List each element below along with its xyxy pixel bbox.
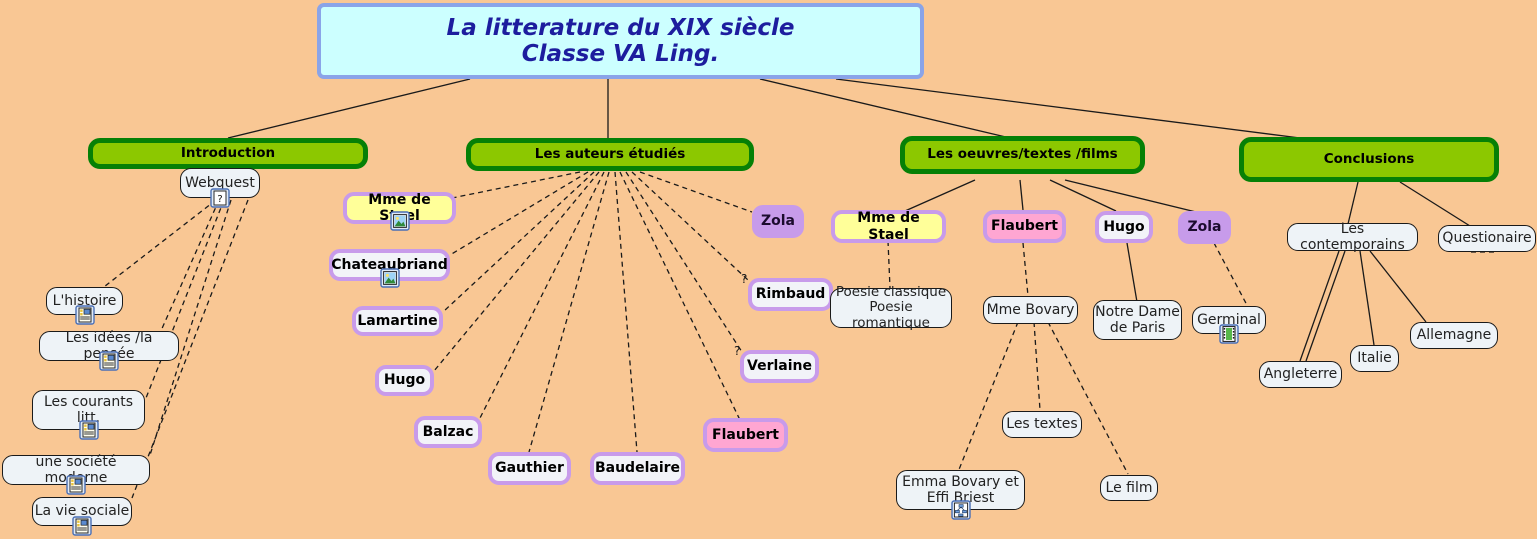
map-title[interactable]: La litterature du XIX siècle Classe VA L… [317, 3, 924, 79]
node-mme-de-stael-auteur[interactable]: Mme de Stael [343, 192, 456, 224]
node-gauthier[interactable]: Gauthier [488, 452, 571, 485]
node-allemagne-label: Allemagne [1417, 327, 1492, 343]
section-auteurs-label: Les auteurs étudiés [535, 147, 686, 163]
map-title-line1: La litterature du XIX siècle [447, 15, 795, 41]
node-lamartine[interactable]: Lamartine [352, 306, 443, 336]
node-italie-label: Italie [1357, 350, 1392, 366]
link-oeuvres-zola [1065, 180, 1196, 212]
node-les-contemporains[interactable]: Les contemporains [1287, 223, 1418, 251]
link-contemporains-italie [1360, 251, 1374, 345]
node-questionaire[interactable]: Questionaire [1438, 225, 1536, 252]
node-flaubert-auteur-label: Flaubert [712, 427, 779, 443]
link-mmebovary-lestextes [1034, 322, 1040, 410]
node-vie-sociale[interactable]: La vie sociale [32, 497, 132, 526]
node-zola-auteur[interactable]: Zola [752, 205, 804, 238]
node-mme-bovary[interactable]: Mme Bovary [983, 296, 1078, 324]
link-hugo-notredame [1127, 243, 1137, 302]
link-webquest-histoire [100, 200, 216, 290]
link-auteurs-balzac [478, 172, 604, 422]
node-idees[interactable]: Les idées /la pensée [39, 331, 179, 361]
document-image-icon[interactable] [72, 516, 92, 536]
link-auteurs-lamartine [444, 172, 594, 311]
section-auteurs[interactable]: Les auteurs étudiés [466, 138, 754, 171]
film-icon[interactable] [1219, 324, 1239, 344]
node-le-film-label: Le film [1106, 480, 1153, 496]
link-webquest-idees [160, 200, 219, 333]
node-flaubert-oeuvre[interactable]: Flaubert [983, 210, 1066, 243]
link-mmedestael-poesie [888, 241, 890, 288]
node-allemagne[interactable]: Allemagne [1410, 322, 1498, 349]
link-oeuvres-mmedestael [905, 180, 975, 211]
node-gauthier-label: Gauthier [495, 460, 564, 476]
node-courants[interactable]: Les courants litt. [32, 390, 145, 430]
marker-verlaine-question: ? [734, 344, 740, 358]
link-title-conclusions [836, 79, 1300, 138]
link-mmebovary-emma [958, 322, 1018, 472]
document-image-icon[interactable] [99, 351, 119, 371]
link-auteurs-rimbaud [632, 172, 748, 280]
node-balzac-label: Balzac [423, 424, 474, 440]
node-les-textes[interactable]: Les textes [1002, 411, 1082, 438]
node-emma-bovary-effi-briest[interactable]: Emma Bovary et Effi Briest [896, 470, 1025, 510]
link-contemporains-allemagne [1370, 251, 1426, 322]
node-mme-de-stael-oeuvre[interactable]: Mme de Stael [831, 210, 946, 243]
map-title-line2: Classe VA Ling. [522, 41, 719, 67]
connector-layer [0, 0, 1537, 539]
node-le-film[interactable]: Le film [1100, 475, 1158, 501]
node-angleterre[interactable]: Angleterre [1259, 361, 1342, 388]
node-poesie[interactable]: Poesie classique Poesie romantique [830, 288, 952, 328]
node-hugo-oeuvre[interactable]: Hugo [1095, 211, 1153, 243]
picture-icon[interactable] [390, 211, 410, 231]
node-balzac[interactable]: Balzac [414, 416, 482, 448]
picture-icon[interactable] [380, 268, 400, 288]
node-germinal[interactable]: Germinal [1192, 306, 1266, 334]
link-auteurs-flaubert [620, 172, 740, 420]
section-introduction[interactable]: Introduction [88, 138, 368, 169]
link-webquest-courants [146, 200, 224, 398]
node-chateaubriand[interactable]: Chateaubriand [329, 249, 450, 281]
section-oeuvres[interactable]: Les oeuvres/textes /films [900, 136, 1145, 174]
document-image-icon[interactable] [75, 305, 95, 325]
link-webquest-societe [150, 200, 231, 455]
link-auteurs-hugo [434, 172, 599, 371]
link-zola-germinal [1214, 243, 1248, 307]
node-rimbaud[interactable]: Rimbaud [748, 278, 833, 311]
node-baudelaire-label: Baudelaire [595, 460, 680, 476]
node-verlaine-label: Verlaine [747, 358, 812, 374]
link-contemporains-angleterre-2 [1306, 251, 1345, 361]
node-zola-oeuvre-label: Zola [1187, 219, 1221, 235]
node-notre-dame[interactable]: Notre Dame de Paris [1093, 300, 1182, 340]
node-poesie-label: Poesie classique Poesie romantique [831, 285, 951, 332]
node-mme-de-stael-oeuvre-label: Mme de Stael [835, 210, 942, 242]
conceptmap-icon[interactable] [951, 500, 971, 520]
section-introduction-label: Introduction [181, 146, 275, 162]
node-questionaire-label: Questionaire [1442, 230, 1531, 246]
link-title-oeuvres [760, 79, 1010, 138]
node-rimbaud-label: Rimbaud [756, 286, 826, 302]
section-oeuvres-label: Les oeuvres/textes /films [927, 147, 1117, 163]
node-les-contemporains-label: Les contemporains [1288, 221, 1417, 253]
link-auteurs-zola [640, 172, 752, 212]
link-auteurs-mmedestael [452, 172, 580, 198]
link-oeuvres-flaubert [1020, 180, 1023, 210]
node-flaubert-auteur[interactable]: Flaubert [703, 418, 788, 452]
svg-text:?: ? [217, 194, 222, 205]
marker-rimbaud-question: ? [741, 272, 747, 286]
node-webquest[interactable]: Webquest ? [180, 168, 260, 198]
node-hugo-auteur[interactable]: Hugo [375, 365, 434, 396]
node-notre-dame-label: Notre Dame de Paris [1095, 304, 1180, 336]
link-conclusions-questionaire [1400, 182, 1470, 226]
link-mmebovary-lefilm [1048, 322, 1128, 474]
node-hugo-auteur-label: Hugo [384, 372, 425, 388]
link-title-introduction [228, 79, 470, 138]
link-contemporains-angleterre [1300, 251, 1339, 361]
section-conclusions-label: Conclusions [1324, 152, 1415, 168]
link-auteurs-chateaubriand [450, 172, 588, 255]
section-conclusions[interactable]: Conclusions [1239, 137, 1499, 182]
link-oeuvres-hugo [1050, 180, 1116, 211]
link-conclusions-contemporains [1348, 182, 1358, 224]
node-societe-moderne[interactable]: une société moderne [2, 455, 150, 485]
link-auteurs-baudelaire [615, 172, 637, 452]
node-angleterre-label: Angleterre [1264, 366, 1338, 382]
node-baudelaire[interactable]: Baudelaire [590, 452, 685, 485]
node-italie[interactable]: Italie [1350, 345, 1399, 372]
node-les-textes-label: Les textes [1006, 416, 1077, 432]
node-flaubert-oeuvre-label: Flaubert [991, 218, 1058, 234]
document-image-icon[interactable] [66, 475, 86, 495]
node-verlaine[interactable]: Verlaine [740, 350, 819, 383]
node-zola-auteur-label: Zola [761, 213, 795, 229]
document-image-icon[interactable] [79, 420, 99, 440]
node-mme-bovary-label: Mme Bovary [987, 302, 1075, 318]
link-auteurs-gauthier [529, 172, 609, 452]
question-document-icon[interactable]: ? [210, 188, 230, 208]
node-lamartine-label: Lamartine [357, 313, 437, 329]
node-hugo-oeuvre-label: Hugo [1103, 219, 1144, 235]
link-flaubert-mmebovary [1023, 243, 1028, 296]
link-auteurs-verlaine [626, 172, 742, 352]
concept-map-canvas: La litterature du XIX siècle Classe VA L… [0, 0, 1537, 539]
node-zola-oeuvre[interactable]: Zola [1178, 211, 1231, 244]
node-histoire[interactable]: L'histoire [46, 287, 123, 315]
